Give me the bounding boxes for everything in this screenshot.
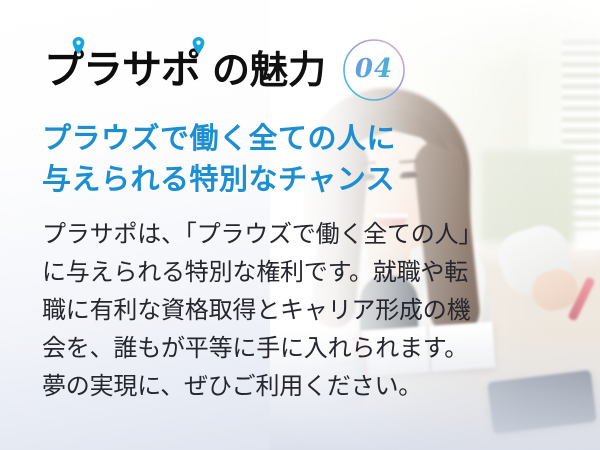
body-line-2: に与えられる特別な権利です。就職や転 (42, 254, 482, 292)
body-line-1: プラサポは、「プラウズで働く全ての人」 (42, 216, 482, 254)
brand-logo: プラサポ (44, 50, 200, 90)
subtitle-line-2: 与えられる特別なチャンス (42, 159, 396, 200)
content-column: プラサポ の魅力 (0, 0, 470, 450)
body-line-5: 夢の実現に、ぜひご利用ください。 (42, 368, 482, 406)
body-copy: プラサポは、「プラウズで働く全ての人」 に与えられる特別な権利です。就職や転 職… (42, 216, 482, 406)
badge-number: 04 (342, 38, 406, 102)
brand-logo-text: プラサポ (44, 47, 200, 93)
map-pin-icon (192, 37, 205, 54)
subtitle-line-1: プラウズで働く全ての人に (42, 118, 396, 159)
number-badge: 04 (342, 38, 406, 102)
page-title: の魅力 (212, 51, 326, 89)
title-row: プラサポ の魅力 (44, 38, 406, 102)
promo-slide: プラサポ の魅力 (0, 0, 600, 450)
subtitle: プラウズで働く全ての人に 与えられる特別なチャンス (42, 118, 396, 200)
body-line-3: 職に有利な資格取得とキャリア形成の機 (42, 292, 482, 330)
map-pin-icon (72, 37, 85, 54)
body-line-4: 会を、誰もが平等に手に入れられます。 (42, 330, 482, 368)
